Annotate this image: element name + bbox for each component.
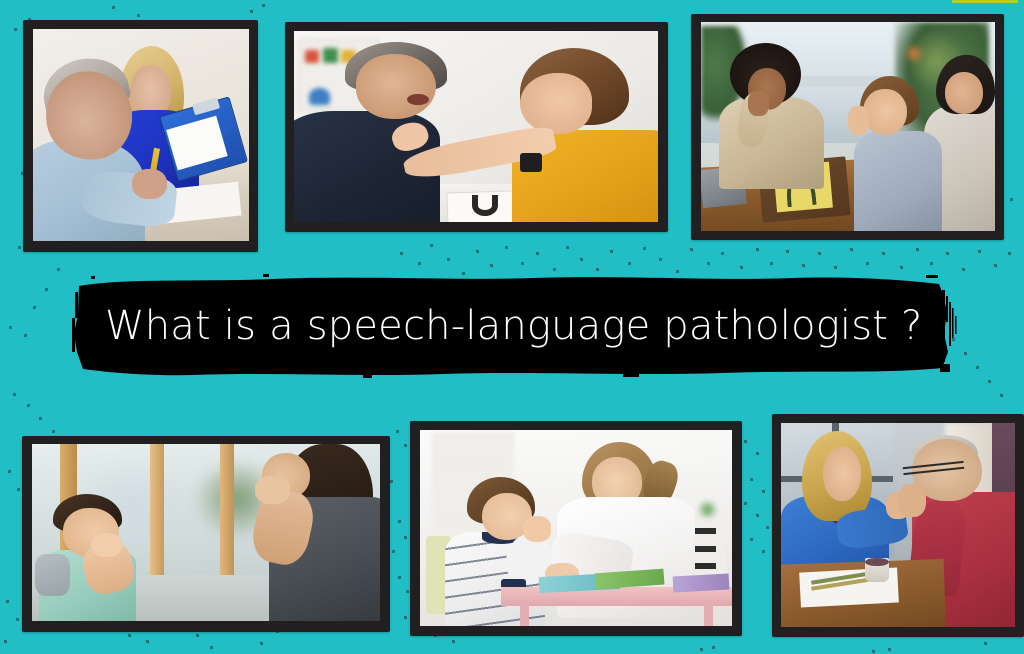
- texture-dot: [553, 268, 556, 271]
- texture-dot: [6, 600, 9, 603]
- photo-top-left: [23, 20, 258, 252]
- texture-dot: [18, 246, 21, 249]
- texture-dot: [210, 646, 213, 649]
- texture-dot: [566, 246, 569, 249]
- texture-dot: [962, 268, 965, 271]
- texture-dot: [610, 250, 613, 253]
- texture-dot: [505, 246, 508, 249]
- texture-dot: [447, 258, 450, 261]
- texture-dot: [396, 430, 399, 433]
- texture-dot: [750, 478, 753, 481]
- texture-dot: [398, 520, 401, 523]
- texture-dot: [146, 640, 149, 643]
- texture-dot: [57, 268, 60, 271]
- texture-dot: [984, 642, 987, 645]
- texture-dot: [9, 326, 12, 329]
- texture-dot: [1000, 394, 1003, 397]
- accent-line: [952, 0, 1018, 3]
- texture-dot: [39, 417, 42, 420]
- texture-dot: [900, 266, 903, 269]
- texture-dot: [786, 250, 789, 253]
- texture-dot: [398, 576, 401, 579]
- photo-top-center: [285, 22, 668, 232]
- texture-dot: [988, 380, 991, 383]
- texture-dot: [404, 536, 407, 539]
- texture-dot: [756, 248, 759, 251]
- texture-dot: [994, 264, 997, 267]
- texture-dot: [17, 488, 20, 491]
- texture-dot: [4, 640, 7, 643]
- texture-dot: [392, 550, 395, 553]
- texture-dot: [16, 618, 19, 621]
- texture-dot: [1010, 198, 1013, 201]
- texture-dot: [721, 252, 724, 255]
- texture-dot: [112, 6, 115, 9]
- texture-dot: [744, 440, 747, 443]
- texture-dot: [580, 258, 583, 261]
- texture-dot: [802, 264, 805, 267]
- texture-dot: [643, 247, 646, 250]
- photo-bottom-left: [22, 436, 390, 632]
- texture-dot: [8, 470, 11, 473]
- texture-dot: [262, 4, 265, 7]
- texture-dot: [744, 502, 747, 505]
- texture-dot: [476, 250, 479, 253]
- texture-dot: [964, 352, 967, 355]
- texture-dot: [418, 262, 421, 265]
- texture-dot: [888, 648, 891, 651]
- texture-dot: [976, 366, 979, 369]
- texture-dot: [850, 248, 853, 251]
- texture-dot: [490, 264, 493, 267]
- texture-dot: [750, 538, 753, 541]
- texture-dot: [196, 634, 199, 637]
- texture-dot: [916, 248, 919, 251]
- texture-dot: [930, 262, 933, 265]
- texture-dot: [628, 262, 631, 265]
- texture-dot: [766, 526, 769, 529]
- texture-dot: [756, 514, 759, 517]
- texture-dot: [406, 590, 409, 593]
- texture-dot: [404, 444, 407, 447]
- texture-dot: [762, 550, 765, 553]
- texture-dot: [946, 252, 949, 255]
- page-title: What is a speech-language pathologist ?: [105, 272, 945, 380]
- texture-dot: [52, 430, 55, 433]
- texture-dot: [818, 252, 821, 255]
- texture-dot: [834, 266, 837, 269]
- texture-dot: [659, 258, 662, 261]
- texture-dot: [707, 262, 710, 265]
- texture-dot: [24, 334, 27, 337]
- texture-dot: [700, 648, 703, 651]
- texture-dot: [536, 252, 539, 255]
- texture-dot: [45, 288, 48, 291]
- poster-canvas: What is a speech-language pathologist ?: [0, 0, 1024, 654]
- photo-bottom-right: [772, 414, 1024, 637]
- texture-dot: [740, 266, 743, 269]
- texture-dot: [404, 616, 407, 619]
- photo-top-right: [691, 14, 1004, 240]
- title-banner: What is a speech-language pathologist ?: [63, 272, 963, 380]
- texture-dot: [13, 393, 16, 396]
- texture-dot: [690, 248, 693, 251]
- texture-dot: [27, 404, 30, 407]
- texture-dot: [978, 250, 981, 253]
- texture-dot: [872, 650, 875, 653]
- texture-dot: [33, 306, 36, 309]
- texture-dot: [250, 10, 253, 13]
- texture-dot: [770, 262, 773, 265]
- texture-dot: [712, 646, 715, 649]
- texture-dot: [137, 14, 140, 17]
- texture-dot: [260, 642, 263, 645]
- texture-dot: [1008, 252, 1011, 255]
- texture-dot: [882, 252, 885, 255]
- texture-dot: [762, 490, 765, 493]
- photo-bottom-center: [410, 421, 742, 636]
- texture-dot: [14, 28, 17, 31]
- texture-dot: [521, 262, 524, 265]
- texture-dot: [866, 262, 869, 265]
- texture-dot: [400, 252, 403, 255]
- texture-dot: [596, 268, 599, 271]
- texture-dot: [128, 634, 131, 637]
- texture-dot: [756, 452, 759, 455]
- texture-dot: [430, 244, 433, 247]
- texture-dot: [452, 640, 455, 643]
- texture-dot: [390, 480, 393, 483]
